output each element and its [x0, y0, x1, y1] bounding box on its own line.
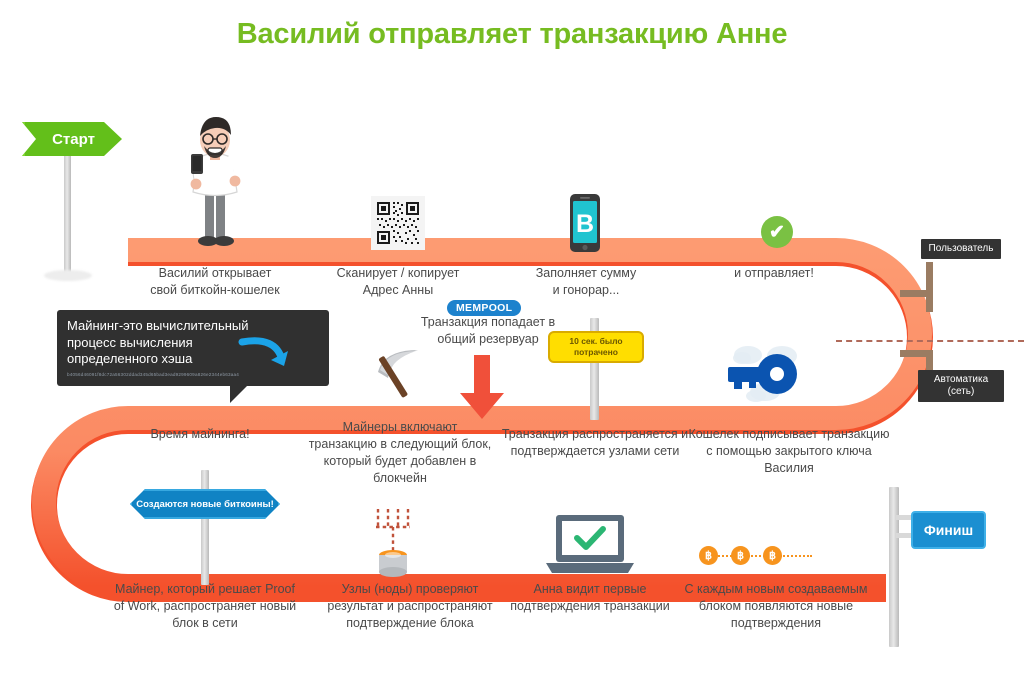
caption-nodes-verify: Узлы (ноды) проверяют результат и распро… — [315, 581, 505, 632]
user-bracket-horizontal — [900, 290, 933, 297]
finish-sign[interactable]: Финиш — [911, 511, 986, 549]
mining-panel-tail — [230, 385, 248, 403]
bitcoin-chain-link-3 — [780, 555, 812, 557]
caption-line: Василий открывает — [120, 265, 310, 282]
mempool-badge-text: MEMPOOL — [456, 302, 512, 314]
side-label-user: Пользователь — [921, 239, 1001, 259]
caption-line: Узлы (ноды) проверяют — [315, 581, 505, 598]
caption-enter-amount: Заполняет сумму и гонорар... — [500, 265, 672, 299]
caption-include-in-block: Майнеры включают транзакцию в следующий … — [300, 419, 500, 487]
side-label-automation: Автоматика (сеть) — [918, 370, 1004, 402]
key-icon — [720, 330, 840, 410]
caption-mempool-step: Транзакция попадает в общий резервуар — [398, 314, 578, 348]
new-coins-sign[interactable]: Создаются новые биткоины! — [130, 489, 280, 519]
start-sign-shadow — [44, 270, 92, 281]
red-arrow-down-icon — [458, 355, 506, 421]
caption-line: Адрес Анны — [308, 282, 488, 299]
caption-line: Майнеры включают — [300, 419, 500, 436]
caption-line: Майнер, который решает Proof — [105, 581, 305, 598]
bitcoin-coin-icon: ฿ — [731, 546, 750, 565]
caption-open-wallet: Василий открывает свой биткойн-кошелек — [120, 265, 310, 299]
smartphone-bitcoin-icon: B — [568, 193, 602, 253]
start-sign-label: Старт — [52, 131, 95, 148]
caption-line: Сканирует / копирует — [308, 265, 488, 282]
caption-line: Транзакция попадает в — [398, 314, 578, 331]
side-label-automation-line2: (сеть) — [924, 386, 998, 398]
caption-line: общий резервуар — [398, 331, 578, 348]
caption-line: Кошелек подписывает транзакцию — [681, 426, 897, 443]
caption-anna-sees: Анна видит первые подтверждения транзакц… — [495, 581, 685, 615]
bitcoin-coin-icon: ฿ — [699, 546, 718, 565]
caption-more-confirmations: С каждым новым создаваемым блоком появля… — [672, 581, 880, 632]
caption-scan-address: Сканирует / копирует Адрес Анны — [308, 265, 488, 299]
side-label-automation-line1: Автоматика — [924, 374, 998, 386]
finish-sign-label: Финиш — [924, 522, 973, 538]
automation-bracket-horizontal — [900, 350, 933, 357]
caption-line: транзакцию в следующий блок, — [300, 436, 500, 453]
caption-line: и гонорар... — [500, 282, 672, 299]
user-bracket-vertical — [926, 262, 933, 312]
caption-line: подтверждается узлами сети — [495, 443, 695, 460]
hex-badge-pole — [201, 470, 209, 585]
caption-propagate: Транзакция распространяется и подтвержда… — [495, 426, 695, 460]
caption-proof-of-work: Майнер, который решает Proof of Work, ра… — [105, 581, 305, 632]
curved-arrow-icon — [238, 332, 298, 380]
caption-mining-time: Время майнинга! — [110, 426, 290, 443]
pickaxe-icon — [372, 346, 428, 398]
caption-line: Транзакция распространяется и — [495, 426, 695, 443]
side-label-user-text: Пользователь — [929, 243, 994, 254]
bitcoin-coin-icon: ฿ — [763, 546, 782, 565]
caption-line: и отправляет! — [694, 265, 854, 282]
caption-line: блоком появляются новые — [672, 598, 880, 615]
caption-line: подтверждения транзакции — [495, 598, 685, 615]
caption-line: подтверждение блока — [315, 615, 505, 632]
caption-line: подтверждения — [672, 615, 880, 632]
caption-line: Василия — [681, 460, 897, 477]
caption-line: блокчейн — [300, 470, 500, 487]
infographic-canvas: Василий отправляет транзакцию Анне Старт — [0, 0, 1024, 680]
caption-line: с помощью закрытого ключа — [681, 443, 897, 460]
caption-line: результат и распространяют — [315, 598, 505, 615]
caption-send: и отправляет! — [694, 265, 854, 282]
laptop-check-icon — [546, 513, 634, 575]
start-sign[interactable]: Старт — [22, 122, 122, 156]
caption-sign-with-key: Кошелек подписывает транзакцию с помощью… — [681, 426, 897, 477]
caption-line: свой биткойн-кошелек — [120, 282, 310, 299]
caption-line: Анна видит первые — [495, 581, 685, 598]
person-with-phone-icon — [180, 112, 250, 252]
caption-line: Время майнинга! — [110, 426, 290, 443]
node-broadcast-icon — [366, 503, 426, 578]
caption-line: Заполняет сумму — [500, 265, 672, 282]
green-check-icon: ✔ — [761, 216, 793, 248]
caption-line: С каждым новым создаваемым — [672, 581, 880, 598]
qr-code-icon — [371, 196, 425, 250]
caption-line: блок в сети — [105, 615, 305, 632]
svg-text:B: B — [576, 210, 594, 238]
user-automation-divider — [836, 340, 1024, 342]
caption-line: of Work, распространяет новый — [105, 598, 305, 615]
finish-sign-pole — [889, 487, 899, 647]
caption-line: который будет добавлен в — [300, 453, 500, 470]
new-coins-sign-label: Создаются новые биткоины! — [136, 499, 274, 510]
